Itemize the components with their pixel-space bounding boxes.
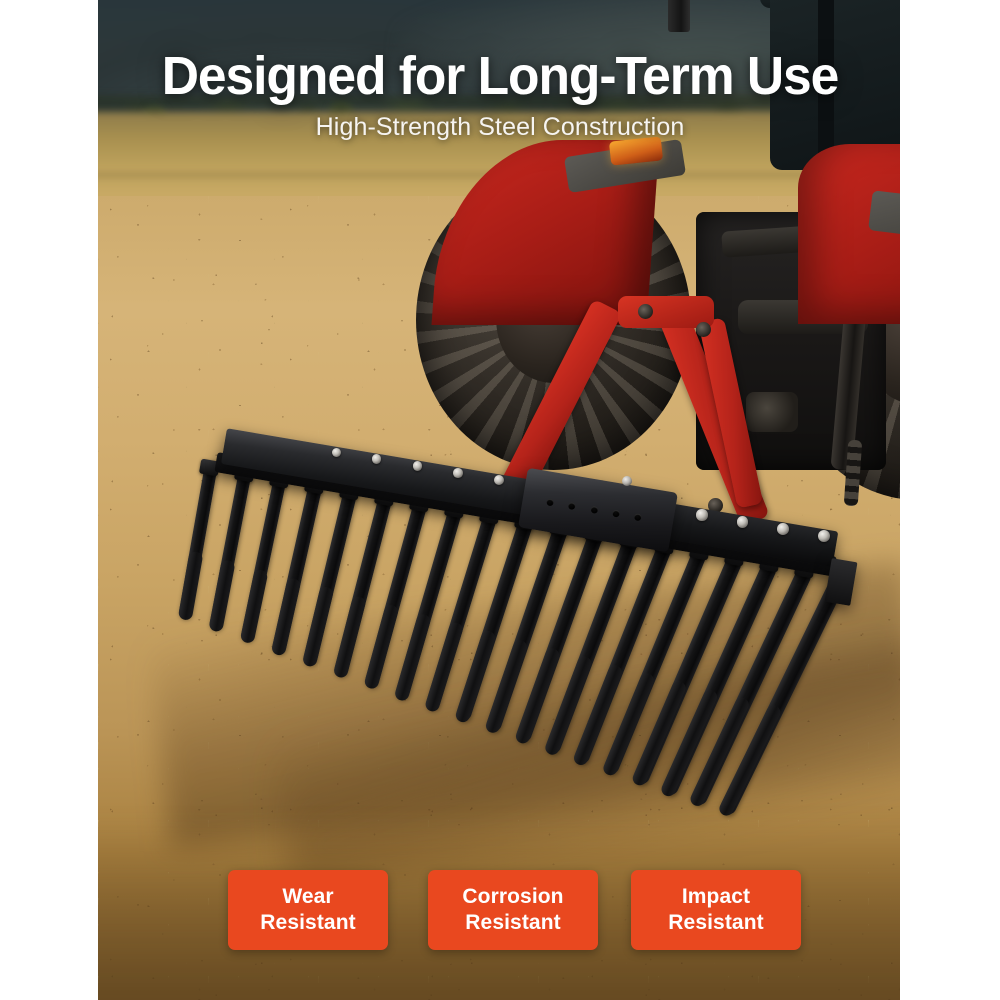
badge-line-1: Impact [682, 884, 750, 910]
rake-bar-bolt [332, 448, 341, 457]
page-title: Designed for Long-Term Use [23, 48, 978, 105]
mounting-hole [612, 509, 620, 517]
rake-bar-bolt [696, 509, 707, 520]
badge-line-2: Resistant [668, 910, 763, 936]
product-photo [98, 0, 900, 1000]
feature-badge-wear-resistant[interactable]: Wear Resistant [228, 870, 388, 950]
feature-badge-corrosion-resistant[interactable]: Corrosion Resistant [428, 870, 598, 950]
rake-mounting-box [518, 468, 678, 553]
product-feature-banner: Designed for Long-Term Use High-Strength… [0, 0, 1000, 1000]
rake-tine [209, 475, 251, 631]
badge-line-2: Resistant [465, 910, 560, 936]
rake-tine [178, 469, 217, 619]
badge-line-2: Resistant [260, 910, 355, 936]
page-subtitle: High-Strength Steel Construction [0, 113, 1000, 142]
rake-bar-bolt [818, 530, 830, 542]
feature-badge-impact-resistant[interactable]: Impact Resistant [631, 870, 801, 950]
rake-bar-bolt [372, 454, 381, 463]
mounting-hole [590, 505, 598, 513]
mounting-hole [546, 498, 554, 506]
rake-bar-bolt [777, 523, 789, 535]
mounting-hole [568, 502, 576, 510]
feature-badge-row: Wear Resistant Corrosion Resistant Impac… [228, 870, 801, 950]
mounting-box-bolt [622, 476, 632, 486]
rake-tine [424, 516, 496, 711]
rake-bar-bolt [494, 475, 504, 485]
rake-bar-bolt [453, 468, 463, 478]
mounting-hole [634, 513, 642, 521]
badge-line-1: Wear [282, 884, 333, 910]
rake-bar-bolt [737, 516, 749, 528]
badge-line-1: Corrosion [462, 884, 563, 910]
rake-bar-bolt [413, 461, 423, 471]
mounting-hole-group [546, 497, 642, 521]
